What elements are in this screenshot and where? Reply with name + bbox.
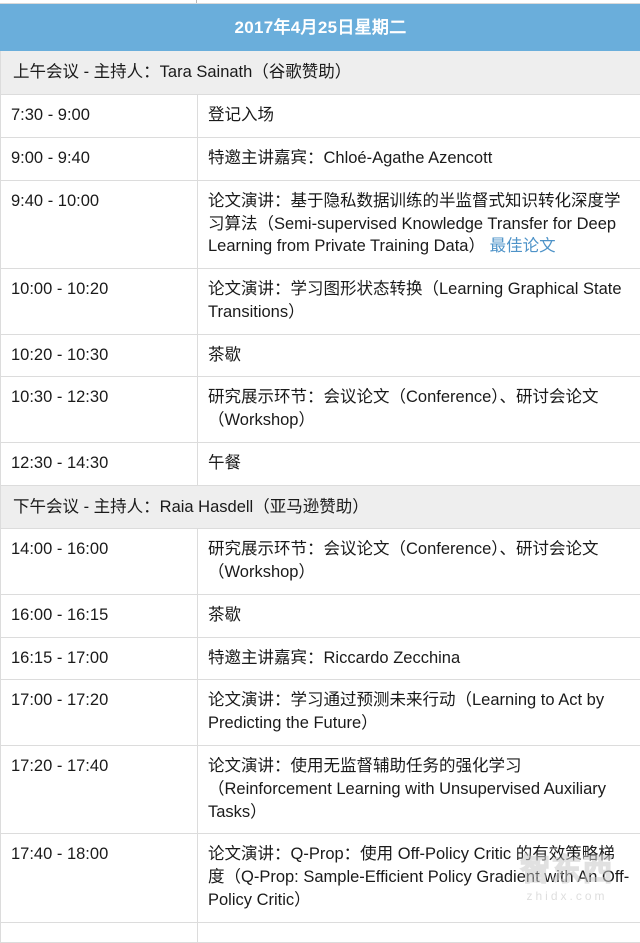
session-time: 14:00 - 16:00 <box>1 529 198 595</box>
session-time: 17:00 - 17:20 <box>1 680 198 746</box>
session-description-text: 研究展示环节：会议论文（Conference）、研讨会论文（Workshop） <box>208 388 599 429</box>
session-description: 特邀主讲嘉宾：Riccardo Zecchina <box>198 637 640 680</box>
session-description-text: 特邀主讲嘉宾：Chloé-Agathe Azencott <box>208 149 492 167</box>
session-description: 论文演讲：基于隐私数据训练的半监督式知识转化深度学习算法（Semi-superv… <box>198 180 640 268</box>
table-row <box>1 922 640 942</box>
table-row: 17:40 - 18:00论文演讲：Q-Prop：使用 Off-Policy C… <box>1 834 640 922</box>
session-time: 10:20 - 10:30 <box>1 334 198 377</box>
session-description <box>198 922 640 942</box>
session-time: 12:30 - 14:30 <box>1 442 198 485</box>
session-time: 9:00 - 9:40 <box>1 137 198 180</box>
session-description: 论文演讲：学习通过预测未来行动（Learning to Act by Predi… <box>198 680 640 746</box>
table-row: 16:15 - 17:00特邀主讲嘉宾：Riccardo Zecchina <box>1 637 640 680</box>
session-description-text: 论文演讲：学习图形状态转换（Learning Graphical State T… <box>208 280 622 321</box>
column-divider <box>196 0 197 3</box>
schedule-body: 2017年4月25日星期二 上午会议 - 主持人：Tara Sainath（谷歌… <box>1 5 640 943</box>
table-row: 14:00 - 16:00研究展示环节：会议论文（Conference）、研讨会… <box>1 529 640 595</box>
session-description-text: 午餐 <box>208 454 241 472</box>
session-description: 研究展示环节：会议论文（Conference）、研讨会论文（Workshop） <box>198 529 640 595</box>
session-time: 7:30 - 9:00 <box>1 95 198 138</box>
session-description: 午餐 <box>198 442 640 485</box>
session-time: 10:00 - 10:20 <box>1 269 198 335</box>
session-description: 论文演讲：Q-Prop：使用 Off-Policy Critic 的有效策略梯度… <box>198 834 640 922</box>
conference-schedule-table: 2017年4月25日星期二 上午会议 - 主持人：Tara Sainath（谷歌… <box>0 4 640 943</box>
date-header-row: 2017年4月25日星期二 <box>1 5 640 51</box>
session-time: 17:40 - 18:00 <box>1 834 198 922</box>
table-row: 17:20 - 17:40论文演讲：使用无监督辅助任务的强化学习（Reinfor… <box>1 746 640 834</box>
session-description: 研究展示环节：会议论文（Conference）、研讨会论文（Workshop） <box>198 377 640 443</box>
session-description-text: 论文演讲：基于隐私数据训练的半监督式知识转化深度学习算法（Semi-superv… <box>208 192 621 256</box>
session-description: 特邀主讲嘉宾：Chloé-Agathe Azencott <box>198 137 640 180</box>
session-description-text: 论文演讲：Q-Prop：使用 Off-Policy Critic 的有效策略梯度… <box>208 845 629 909</box>
table-row: 16:00 - 16:15茶歇 <box>1 594 640 637</box>
table-row: 17:00 - 17:20论文演讲：学习通过预测未来行动（Learning to… <box>1 680 640 746</box>
session-description: 论文演讲：使用无监督辅助任务的强化学习（Reinforcement Learni… <box>198 746 640 834</box>
session-time: 10:30 - 12:30 <box>1 377 198 443</box>
session-description-text: 特邀主讲嘉宾：Riccardo Zecchina <box>208 649 460 667</box>
session-header-label: 下午会议 - 主持人：Raia Hasdell（亚马逊赞助） <box>1 485 640 529</box>
session-header-row: 上午会议 - 主持人：Tara Sainath（谷歌赞助） <box>1 51 640 95</box>
table-row: 10:30 - 12:30研究展示环节：会议论文（Conference）、研讨会… <box>1 377 640 443</box>
session-time: 9:40 - 10:00 <box>1 180 198 268</box>
session-header-label: 上午会议 - 主持人：Tara Sainath（谷歌赞助） <box>1 51 640 95</box>
session-header-row: 下午会议 - 主持人：Raia Hasdell（亚马逊赞助） <box>1 485 640 529</box>
session-description-text: 论文演讲：使用无监督辅助任务的强化学习（Reinforcement Learni… <box>208 757 606 821</box>
table-row: 7:30 - 9:00登记入场 <box>1 95 640 138</box>
best-paper-link[interactable]: 最佳论文 <box>490 237 556 255</box>
session-description-text: 茶歇 <box>208 606 241 624</box>
table-row: 10:00 - 10:20论文演讲：学习图形状态转换（Learning Grap… <box>1 269 640 335</box>
session-description: 茶歇 <box>198 334 640 377</box>
session-time <box>1 922 198 942</box>
session-description: 论文演讲：学习图形状态转换（Learning Graphical State T… <box>198 269 640 335</box>
session-time: 17:20 - 17:40 <box>1 746 198 834</box>
table-row: 12:30 - 14:30午餐 <box>1 442 640 485</box>
date-header-cell: 2017年4月25日星期二 <box>1 5 640 51</box>
table-row: 10:20 - 10:30茶歇 <box>1 334 640 377</box>
table-row: 9:40 - 10:00论文演讲：基于隐私数据训练的半监督式知识转化深度学习算法… <box>1 180 640 268</box>
session-description: 茶歇 <box>198 594 640 637</box>
session-time: 16:15 - 17:00 <box>1 637 198 680</box>
session-description-text: 登记入场 <box>208 106 274 124</box>
session-description: 登记入场 <box>198 95 640 138</box>
session-description-text: 研究展示环节：会议论文（Conference）、研讨会论文（Workshop） <box>208 540 599 581</box>
session-description-text: 茶歇 <box>208 346 241 364</box>
previous-row-sliver <box>0 0 640 4</box>
table-row: 9:00 - 9:40特邀主讲嘉宾：Chloé-Agathe Azencott <box>1 137 640 180</box>
session-time: 16:00 - 16:15 <box>1 594 198 637</box>
session-description-text: 论文演讲：学习通过预测未来行动（Learning to Act by Predi… <box>208 691 604 732</box>
